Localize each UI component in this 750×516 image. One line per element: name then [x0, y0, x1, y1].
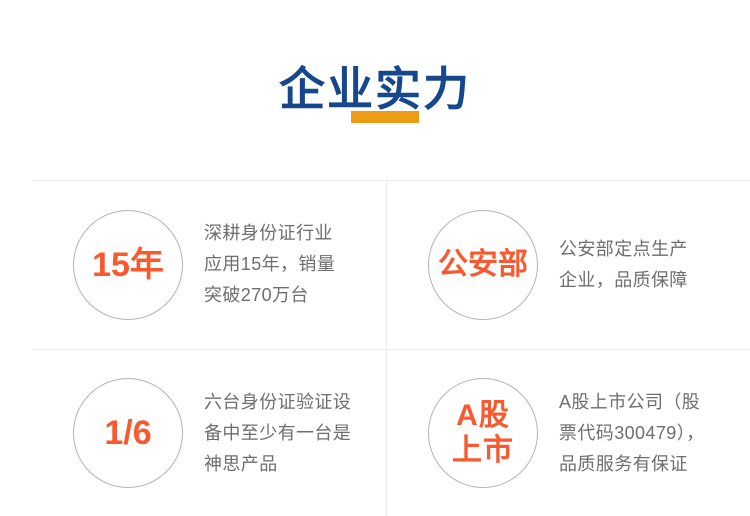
badge-circle: 15年: [73, 210, 183, 320]
desc-line: 公安部定点生产: [559, 234, 740, 265]
strength-cell-ministry-public-security: 公安部 公安部定点生产 企业，品质保障: [387, 180, 750, 349]
title-underline-accent: [351, 111, 419, 123]
desc-line: 突破270万台: [204, 280, 376, 311]
strength-cell-15-years: 15年 深耕身份证行业 应用15年，销量 突破270万台: [33, 180, 386, 349]
badge-circle: 公安部: [428, 210, 538, 320]
page-header: 企业实力: [0, 0, 750, 180]
badge-circle: A股 上市: [428, 378, 538, 488]
desc-line: 品质服务有保证: [559, 449, 740, 480]
desc-line: 深耕身份证行业: [204, 218, 376, 249]
strength-description: A股上市公司（股 票代码300479）， 品质服务有保证: [559, 387, 750, 480]
strength-description: 深耕身份证行业 应用15年，销量 突破270万台: [204, 218, 386, 311]
desc-line: 应用15年，销量: [204, 249, 376, 280]
desc-line: 备中至少有一台是: [204, 418, 376, 449]
page-title: 企业实力: [0, 61, 750, 117]
desc-line: 企业，品质保障: [559, 265, 740, 296]
strengths-grid: 15年 深耕身份证行业 应用15年，销量 突破270万台 公安部 公安部定点生产…: [33, 180, 750, 516]
desc-line: 六台身份证验证设: [204, 387, 376, 418]
strength-cell-one-sixth: 1/6 六台身份证验证设 备中至少有一台是 神思产品: [33, 350, 386, 516]
badge-label: 1/6: [104, 416, 151, 450]
desc-line: 神思产品: [204, 449, 376, 480]
strength-description: 公安部定点生产 企业，品质保障: [559, 234, 750, 296]
strength-description: 六台身份证验证设 备中至少有一台是 神思产品: [204, 387, 386, 480]
desc-line: 票代码300479），: [559, 418, 740, 449]
strength-cell-a-share-listed: A股 上市 A股上市公司（股 票代码300479）， 品质服务有保证: [387, 350, 750, 516]
desc-line: A股上市公司（股: [559, 387, 740, 418]
badge-label: A股 上市: [452, 398, 514, 469]
badge-label: 15年: [92, 248, 164, 282]
badge-label: 公安部: [438, 250, 528, 280]
badge-circle: 1/6: [73, 378, 183, 488]
